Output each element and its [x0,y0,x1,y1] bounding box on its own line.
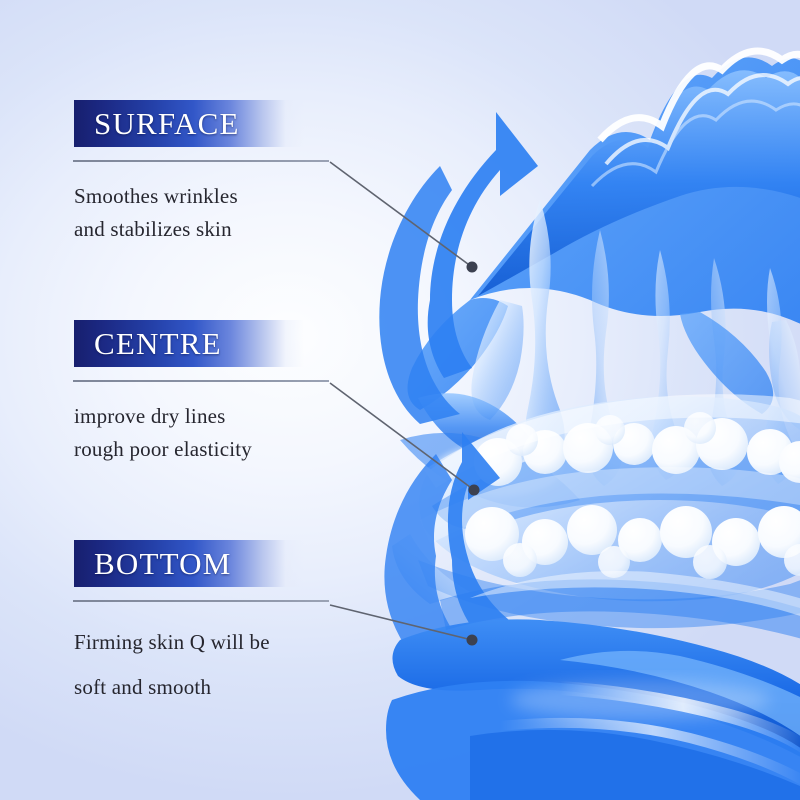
body-text-surface: Smoothes wrinkles and stabilizes skin [74,180,374,246]
section-surface: SURFACE Smoothes wrinkles and stabilizes… [74,100,374,147]
poster-root: SURFACE Smoothes wrinkles and stabilizes… [0,0,800,800]
tag-label-centre: CENTRE [74,328,222,359]
tag-label-surface: SURFACE [74,108,240,139]
body-line: soft and smooth [74,665,374,710]
section-bottom: BOTTOM Firming skin Q will be soft and s… [74,540,374,587]
body-text-centre: improve dry lines rough poor elasticity [74,400,374,466]
body-line: rough poor elasticity [74,433,374,466]
section-centre: CENTRE improve dry lines rough poor elas… [74,320,374,367]
divider-rule-bottom [73,600,329,602]
body-line: improve dry lines [74,400,374,433]
text-column: SURFACE Smoothes wrinkles and stabilizes… [0,0,420,800]
tag-label-bottom: BOTTOM [74,548,232,579]
bottom-liquid-ribbons [386,571,800,800]
body-line: Firming skin Q will be [74,620,374,665]
divider-rule-surface [73,160,329,162]
body-text-bottom: Firming skin Q will be soft and smooth [74,620,374,710]
tag-bar-centre: CENTRE [74,320,304,367]
body-line: Smoothes wrinkles [74,180,374,213]
divider-rule-centre [73,380,329,382]
tag-bar-surface: SURFACE [74,100,304,147]
tag-bar-bottom: BOTTOM [74,540,304,587]
body-line: and stabilizes skin [74,213,374,246]
